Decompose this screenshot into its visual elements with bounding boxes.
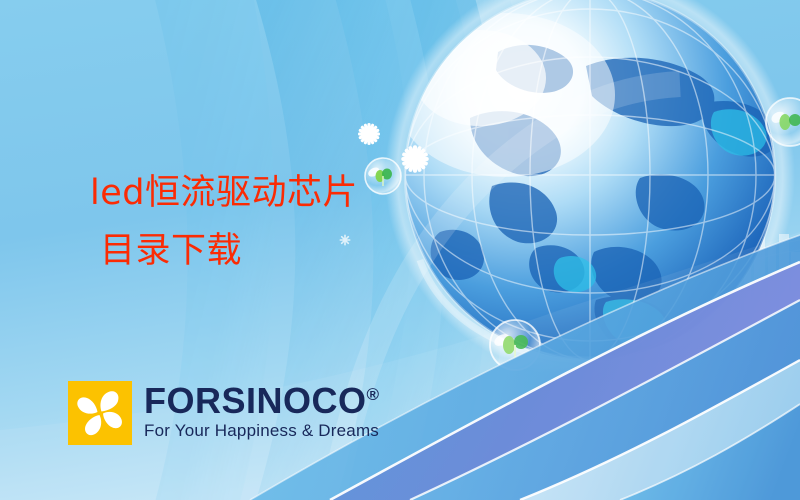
registered-trademark-icon: ® xyxy=(367,385,380,404)
brand-name-text: FORSINOCO xyxy=(144,380,367,421)
poster-canvas: led恒流驱动芯片 目录下载 FORSINOCO® For Your Happi… xyxy=(0,0,800,500)
brand-logo: FORSINOCO® For Your Happiness & Dreams xyxy=(68,381,380,445)
four-petal-pinwheel-icon xyxy=(68,381,132,445)
brand-tagline: For Your Happiness & Dreams xyxy=(144,421,380,441)
brand-wordmark: FORSINOCO® For Your Happiness & Dreams xyxy=(144,381,380,441)
brand-name: FORSINOCO® xyxy=(144,384,380,418)
